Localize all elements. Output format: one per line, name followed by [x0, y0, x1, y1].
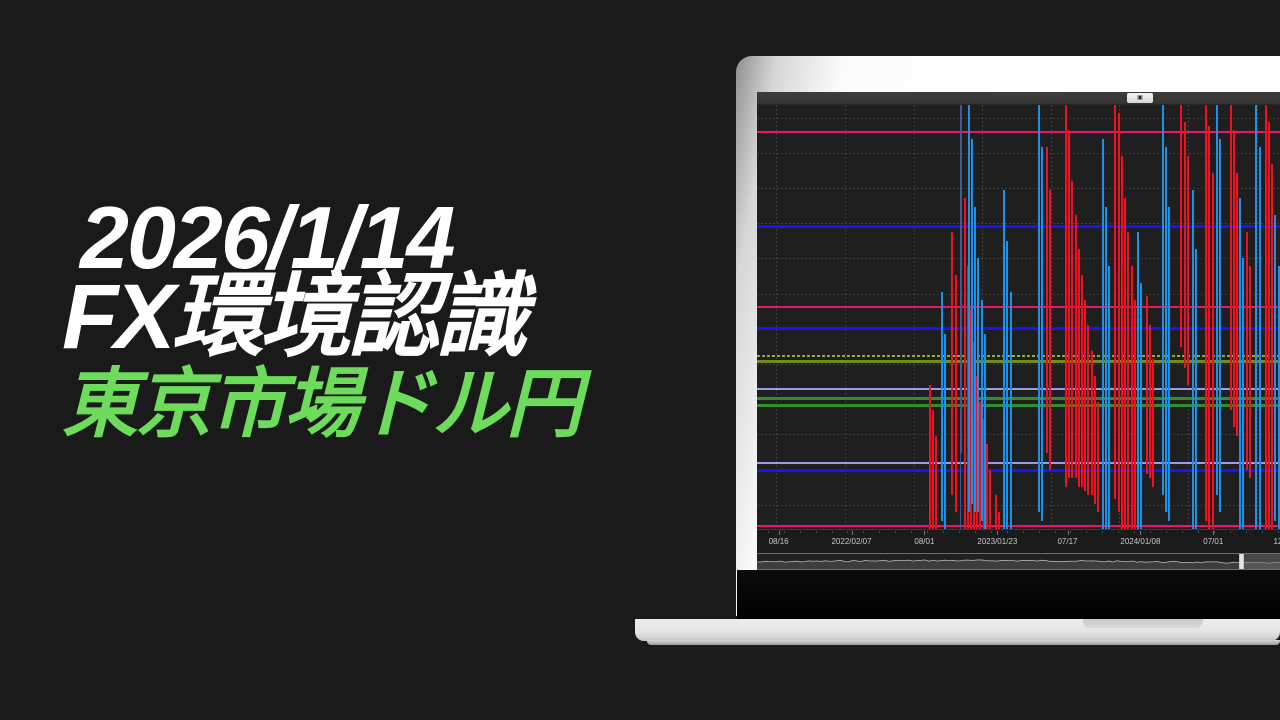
- x-axis-minor-tick: [1134, 531, 1135, 533]
- x-axis-minor-tick: [879, 531, 880, 533]
- x-axis-minor-tick: [1102, 531, 1103, 533]
- x-axis-minor-tick: [1230, 531, 1231, 533]
- x-axis-minor-tick: [1246, 531, 1247, 533]
- x-axis-minor-tick: [1150, 531, 1151, 533]
- minimap-unselected-region: [1239, 554, 1280, 569]
- x-axis-minor-tick: [800, 531, 801, 533]
- x-axis-minor-tick: [1262, 531, 1263, 533]
- x-axis-minor-tick: [975, 531, 976, 533]
- laptop-base-shadow: [647, 640, 1280, 645]
- x-axis-minor-tick: [1070, 531, 1071, 533]
- x-axis-minor-tick: [1198, 531, 1199, 533]
- x-axis-label: 08/01: [914, 537, 934, 546]
- x-axis-minor-tick: [959, 531, 960, 533]
- x-axis-minor-tick: [911, 531, 912, 533]
- x-axis-minor-tick: [863, 531, 864, 533]
- toolbar-button[interactable]: ▣: [1127, 93, 1153, 103]
- x-axis-minor-tick: [1007, 531, 1008, 533]
- x-axis-minor-tick: [816, 531, 817, 533]
- chart-x-axis: 08/162022/02/0708/012023/01/2307/172024/…: [757, 529, 1280, 553]
- x-axis-minor-tick: [1055, 531, 1056, 533]
- x-axis-minor-tick: [1039, 531, 1040, 533]
- laptop-screen: ▣ 08/162022/02/0708/012023/01/2307/17202…: [757, 92, 1280, 570]
- x-axis-minor-tick: [1166, 531, 1167, 533]
- x-axis-tick: [924, 531, 925, 535]
- x-axis-minor-tick: [768, 531, 769, 533]
- x-axis-minor-tick: [895, 531, 896, 533]
- chart-cursor: [757, 105, 1280, 529]
- x-axis-label: 08/16: [769, 537, 789, 546]
- x-axis-tick: [1068, 531, 1069, 535]
- app-toolbar: ▣: [757, 92, 1280, 105]
- x-axis-minor-tick: [784, 531, 785, 533]
- x-axis-minor-tick: [1278, 531, 1279, 533]
- x-axis-minor-tick: [1214, 531, 1215, 533]
- x-axis-minor-tick: [991, 531, 992, 533]
- vertical-cursor: [960, 105, 961, 529]
- overlay-title: FX環境認識: [62, 274, 720, 361]
- x-axis-tick: [779, 531, 780, 535]
- price-chart[interactable]: [757, 105, 1280, 529]
- x-axis-tick: [852, 531, 853, 535]
- x-axis-minor-tick: [832, 531, 833, 533]
- x-axis-minor-tick: [1118, 531, 1119, 533]
- x-axis-label: 2024/01/08: [1120, 537, 1160, 546]
- x-axis-label: 12/23: [1273, 537, 1280, 546]
- x-axis-minor-tick: [927, 531, 928, 533]
- x-axis-minor-tick: [1023, 531, 1024, 533]
- x-axis-tick: [997, 531, 998, 535]
- x-axis-label: 2023/01/23: [977, 537, 1017, 546]
- title-overlay: 2026/1/14 FX環境認識 東京市場ドル円: [60, 196, 720, 443]
- minimap-handle[interactable]: [1239, 554, 1244, 569]
- x-axis-label: 07/01: [1203, 537, 1223, 546]
- x-axis-tick: [1140, 531, 1141, 535]
- x-axis-minor-tick: [847, 531, 848, 533]
- x-axis-label: 07/17: [1057, 537, 1077, 546]
- laptop-base-notch: [1083, 619, 1203, 628]
- x-axis-minor-tick: [943, 531, 944, 533]
- x-axis-label: 2022/02/07: [831, 537, 871, 546]
- x-axis-minor-tick: [1182, 531, 1183, 533]
- toolbar-button-icon: ▣: [1137, 95, 1143, 101]
- chart-minimap-scrollbar[interactable]: [757, 553, 1280, 570]
- laptop-hinge-gap: [737, 570, 1280, 620]
- minimap-sparkline: [757, 554, 1280, 569]
- x-axis-minor-tick: [1086, 531, 1087, 533]
- overlay-subtitle: 東京市場ドル円: [62, 367, 720, 443]
